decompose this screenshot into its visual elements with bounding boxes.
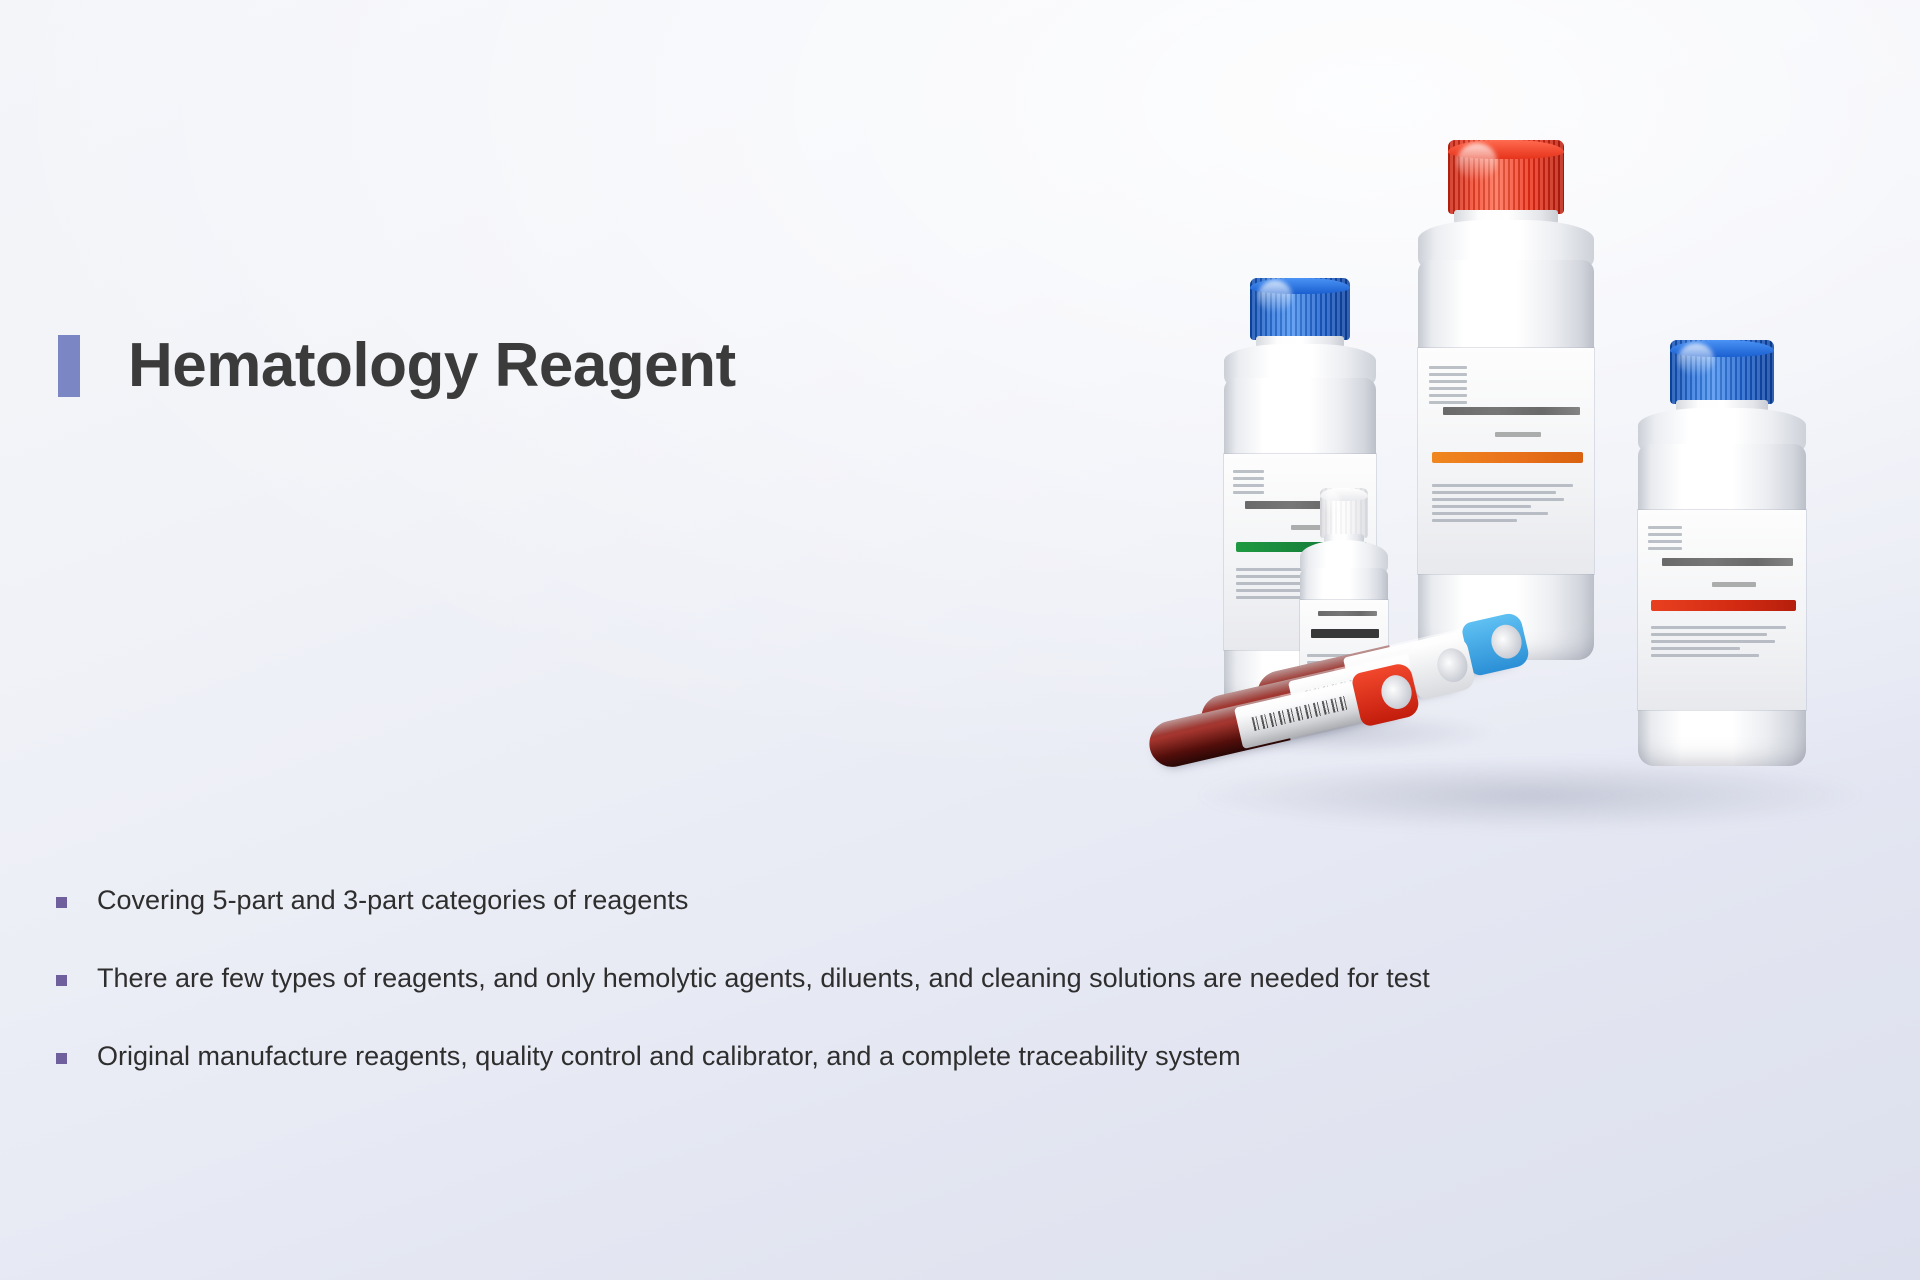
label-side-lines [1233, 470, 1263, 494]
label-product-code [1495, 432, 1541, 437]
slide-canvas: Hematology Reagent Covering 5-part and 3… [0, 0, 1920, 1280]
label-product-name [1662, 558, 1793, 566]
label-stripe [1432, 452, 1583, 463]
bullet-square-icon [56, 1053, 67, 1064]
blue-cap-icon [1250, 278, 1350, 340]
list-item: Original manufacture reagents, quality c… [56, 1040, 1816, 1074]
title-accent-bar [58, 335, 80, 397]
list-item-label: Covering 5-part and 3-part categories of… [97, 884, 688, 918]
list-item-label: Original manufacture reagents, quality c… [97, 1040, 1241, 1074]
center-tall-bottle [1410, 140, 1602, 670]
bottle-label [1638, 510, 1806, 710]
label-stripe [1651, 600, 1795, 611]
label-stripe [1311, 629, 1380, 638]
page-title: Hematology Reagent [58, 335, 736, 397]
bullet-square-icon [56, 897, 67, 908]
label-side-lines [1429, 366, 1468, 404]
label-side-lines [1648, 526, 1682, 550]
right-bottle [1630, 340, 1814, 776]
list-item: There are few types of reagents, and onl… [56, 962, 1816, 996]
blue-cap-icon [1670, 340, 1774, 404]
red-cap-icon [1448, 140, 1564, 214]
label-detail-lines [1651, 626, 1785, 657]
white-cap-icon [1406, 635, 1477, 701]
label-product-name [1318, 611, 1378, 616]
label-detail-lines [1432, 484, 1573, 522]
list-item-label: There are few types of reagents, and onl… [97, 962, 1430, 996]
bullet-square-icon [56, 975, 67, 986]
label-product-name [1443, 407, 1580, 415]
label-product-code [1712, 582, 1756, 587]
page-title-text: Hematology Reagent [128, 335, 736, 397]
bottle-label [1418, 348, 1594, 574]
product-photo [1140, 120, 1900, 920]
white-cap-icon [1320, 488, 1368, 538]
